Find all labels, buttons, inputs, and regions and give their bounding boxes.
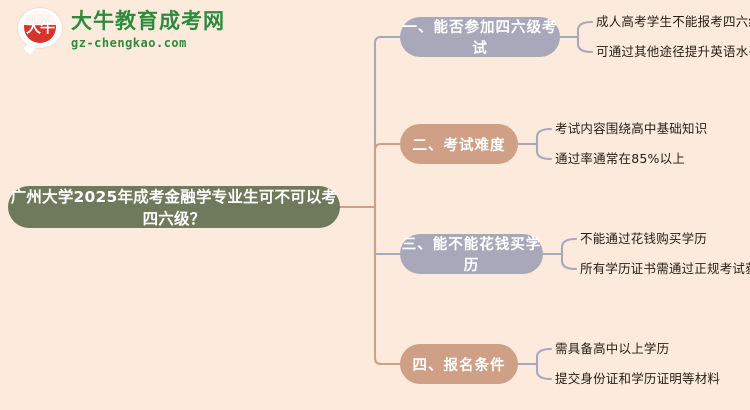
branch-node-2[interactable]: 二、考试难度 (400, 124, 518, 164)
leaf-4-1: 需具备高中以上学历 (555, 343, 669, 356)
central-topic-node[interactable]: 广州大学2025年成考金融学专业生可不可以考四六级？ (8, 186, 340, 228)
branch-1-bracket (578, 22, 592, 52)
trunk-to-branch-4 (375, 207, 400, 364)
leaf-3-2: 所有学历证书需通过正规考试获得 (580, 263, 750, 276)
branch-node-1[interactable]: 一、能否参加四六级考试 (400, 17, 560, 57)
branch-4-bracket (537, 349, 551, 379)
leaf-4-2: 提交身份证和学历证明等材料 (555, 373, 720, 386)
trunk-to-branch-2 (375, 144, 400, 207)
leaf-1-2: 可通过其他途径提升英语水平 (596, 46, 750, 59)
branch-node-3[interactable]: 三、能不能花钱买学历 (400, 234, 543, 274)
trunk-to-branch-3 (375, 207, 400, 254)
trunk-to-branch-1 (375, 37, 400, 207)
leaf-2-1: 考试内容围绕高中基础知识 (555, 123, 707, 136)
branch-node-4[interactable]: 四、报名条件 (400, 344, 518, 384)
leaf-3-1: 不能通过花钱购买学历 (580, 233, 707, 246)
leaf-1-1: 成人高考学生不能报考四六级 (596, 16, 750, 29)
mindmap-canvas: 大牛 大牛教育成考网 gz-chengkao.com (0, 0, 750, 410)
branch-3-bracket (562, 239, 576, 269)
leaf-2-2: 通过率通常在85%以上 (555, 153, 685, 166)
branch-2-bracket (537, 129, 551, 159)
